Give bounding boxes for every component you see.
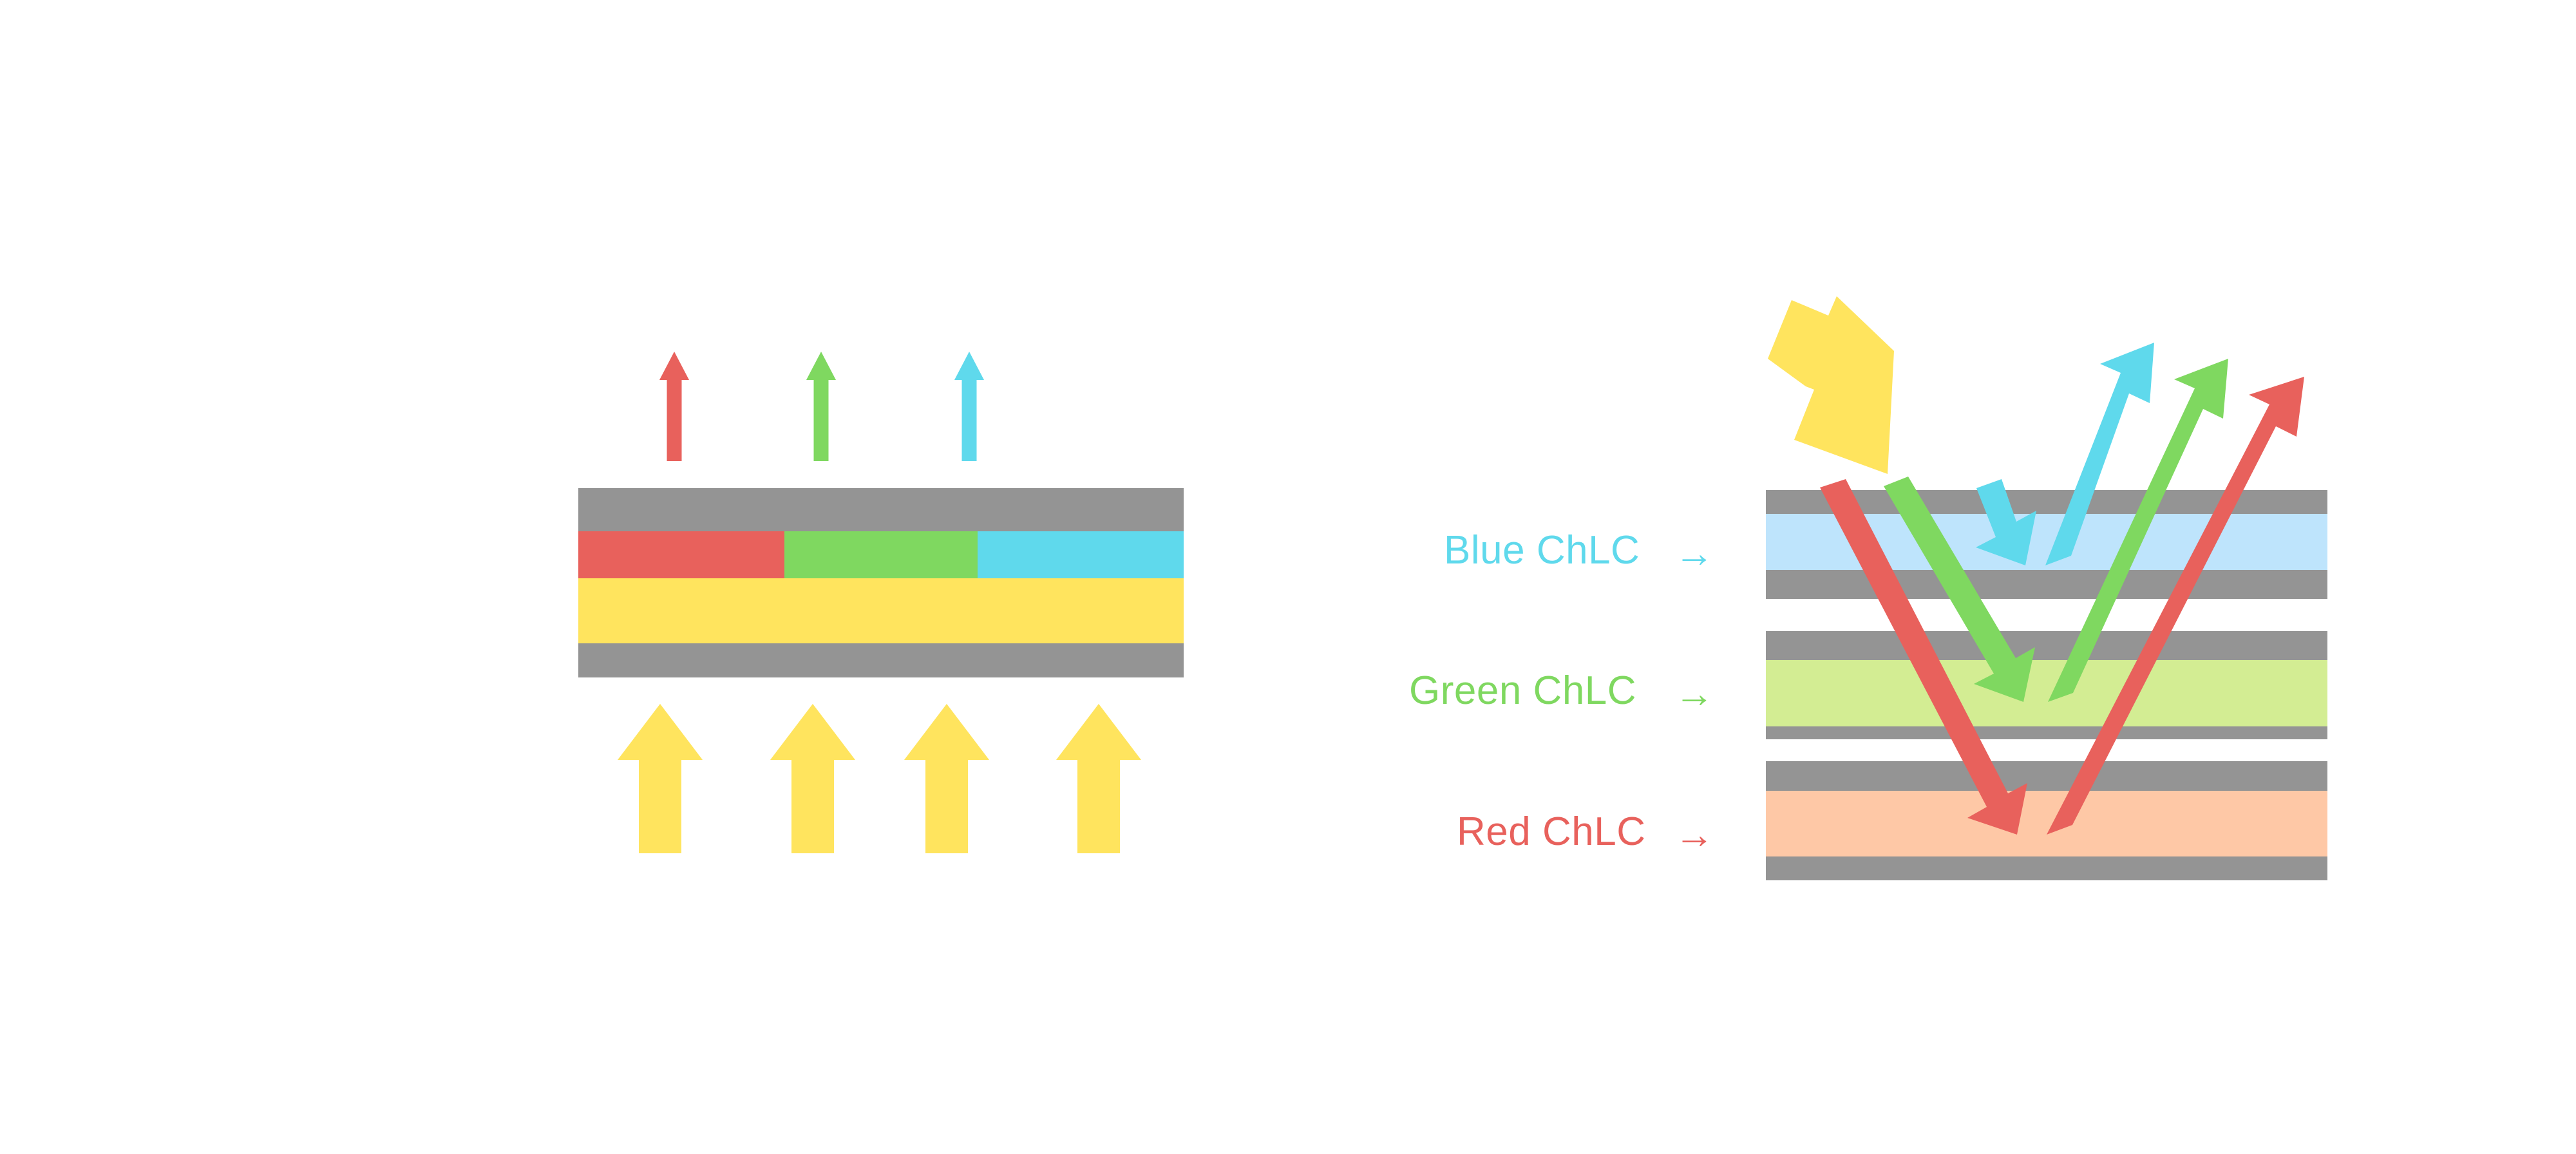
red-chlc-label-group: Red ChLC → [1457, 809, 1715, 857]
red-subpixel [578, 531, 784, 578]
blue-chlc-label: Blue ChLC [1444, 528, 1640, 572]
green-chlc-layer [1766, 660, 2327, 726]
green-chlc-cell [1766, 631, 2327, 739]
backlight-layer [578, 578, 1184, 643]
green-cell-bottom-electrode [1766, 726, 2327, 739]
blue-subpixel [978, 531, 1184, 578]
red-chlc-label: Red ChLC [1457, 809, 1645, 854]
left-bottom-substrate [578, 643, 1184, 677]
red-chlc-layer [1766, 791, 2327, 856]
red-cell-bottom-electrode [1766, 856, 2327, 880]
left-stack-layers [578, 488, 1184, 677]
left-top-substrate [578, 488, 1184, 531]
blue-label-arrow-icon: → [1674, 531, 1715, 576]
blue-cell-bottom-electrode [1766, 570, 2327, 599]
green-cell-top-electrode [1766, 631, 2327, 660]
red-label-arrow-icon: → [1674, 813, 1715, 857]
blue-chlc-label-group: Blue ChLC → [1444, 528, 1715, 576]
red-cell-top-electrode [1766, 761, 2327, 791]
red-chlc-cell [1766, 761, 2327, 880]
green-chlc-label: Green ChLC [1409, 668, 1636, 713]
green-subpixel [784, 531, 978, 578]
diagram-canvas: Blue ChLC → Green ChLC → Red ChLC → [0, 0, 2576, 1154]
green-label-arrow-icon: → [1674, 672, 1715, 716]
chlc-stack-diagram: Blue ChLC → Green ChLC → Red ChLC → [0, 0, 2576, 1154]
